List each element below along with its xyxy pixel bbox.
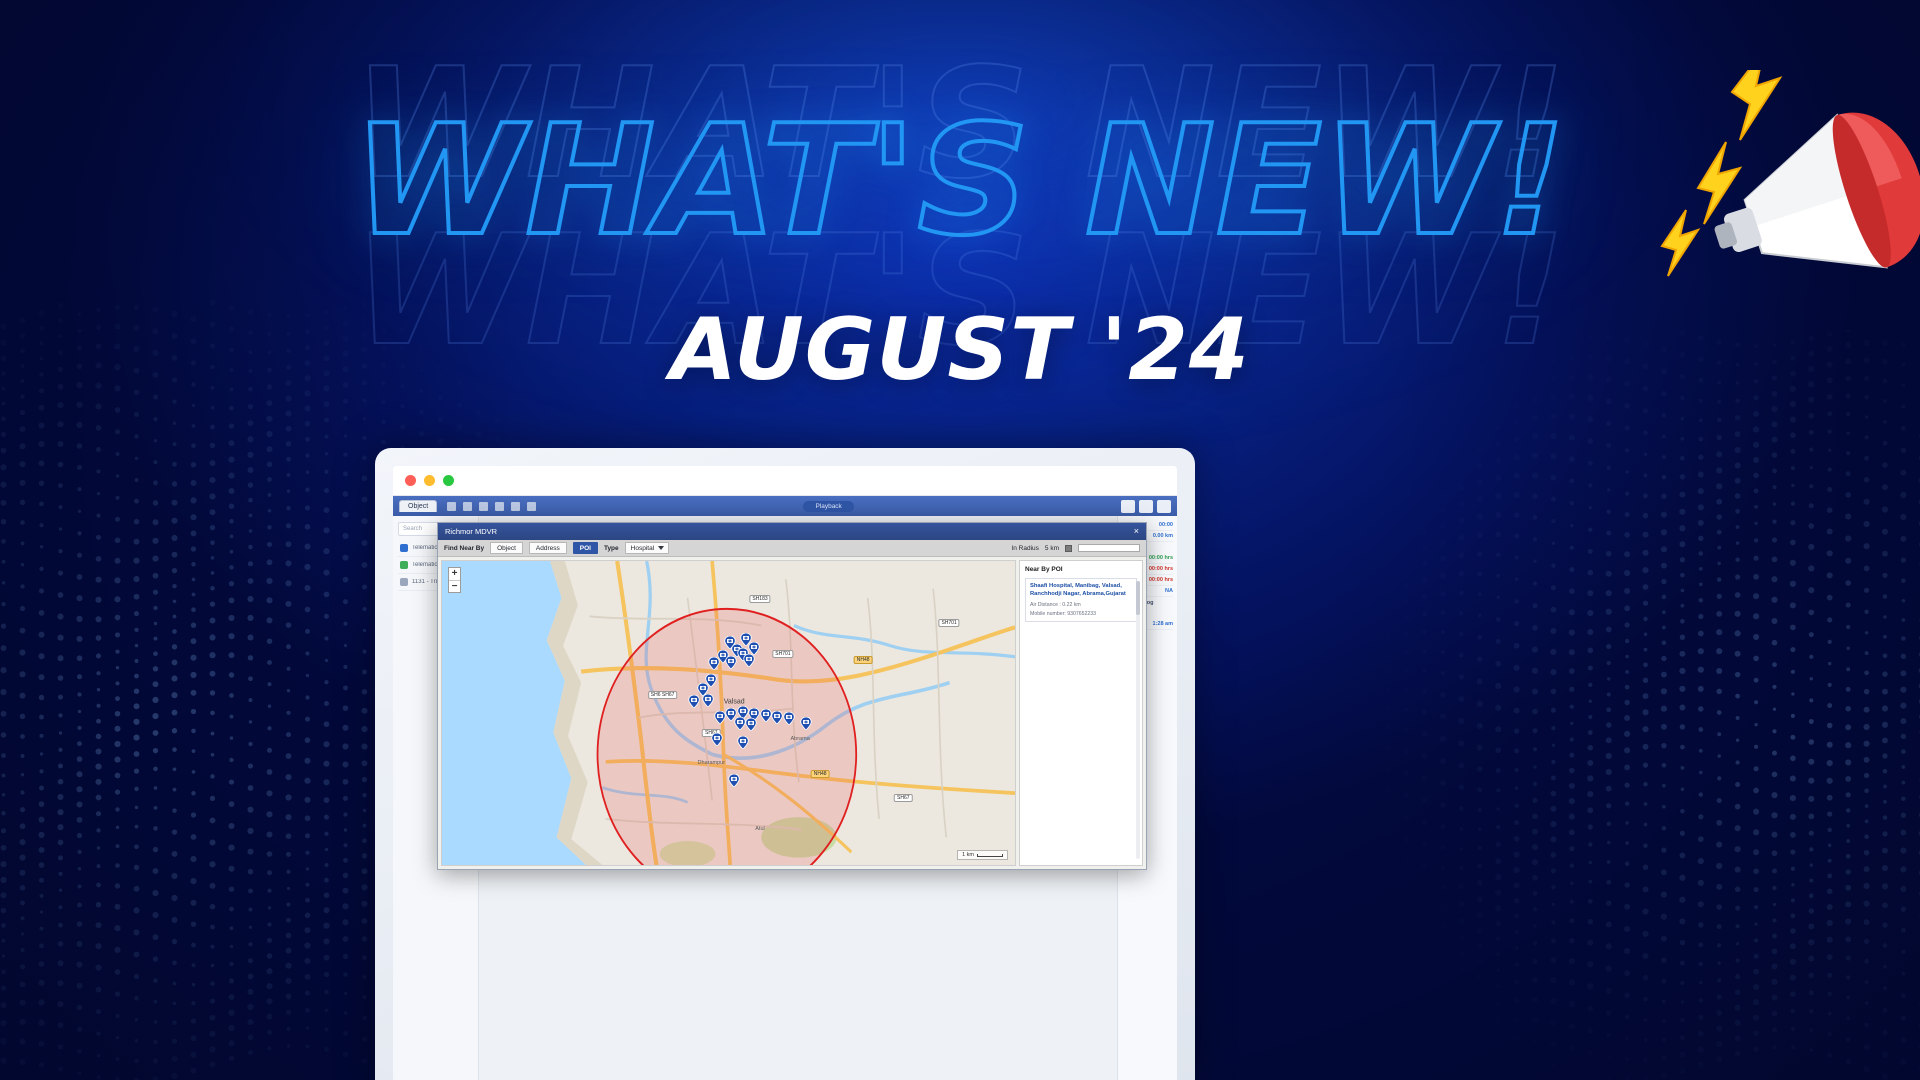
page-subtitle: AUGUST '24 bbox=[0, 300, 1920, 400]
app-body: Search Telematics Device Telematics Devi… bbox=[393, 516, 1177, 1080]
laptop-screen: Object Playback Searc bbox=[393, 466, 1177, 1080]
find-by-object-button[interactable]: Object bbox=[490, 542, 523, 554]
vehicle-icon[interactable] bbox=[447, 502, 456, 511]
near-by-poi-heading: Near By POI bbox=[1025, 566, 1137, 573]
road-label: SH183 bbox=[749, 595, 770, 603]
list-item[interactable]: Shaafi Hospital, Manibag, Valsad, Ranchh… bbox=[1025, 578, 1137, 622]
modal-main: + − SH183SH701SH701NH48SH6 SH67SH67NH48S… bbox=[438, 557, 1146, 869]
menu-icon[interactable] bbox=[1157, 500, 1171, 513]
playback-button[interactable]: Playback bbox=[803, 501, 853, 512]
city-label: Valsad bbox=[724, 699, 745, 706]
modal-toolbar: Find Near By Object Address POI Type Hos… bbox=[438, 540, 1146, 557]
road-label: SH67 bbox=[894, 794, 913, 802]
scale-label: 1 km bbox=[962, 852, 974, 858]
rail-value: 00:00 hrs bbox=[1149, 577, 1173, 583]
poi-air-distance: Air Distance : 0.22 km bbox=[1030, 602, 1132, 608]
minimize-icon[interactable] bbox=[424, 475, 435, 486]
device-icon bbox=[400, 561, 408, 569]
hospital-pin-icon[interactable] bbox=[742, 654, 755, 667]
map-zoom-controls: + − bbox=[448, 567, 461, 593]
zoom-out-button[interactable]: − bbox=[449, 580, 460, 592]
rail-value: 0.00 km bbox=[1153, 533, 1173, 539]
poi-mobile: Mobile number: 9307652233 bbox=[1030, 611, 1132, 617]
close-icon[interactable] bbox=[405, 475, 416, 486]
radius-input[interactable] bbox=[1078, 544, 1140, 552]
road-label: SH701 bbox=[772, 650, 793, 658]
radius-value: 5 km bbox=[1045, 545, 1059, 552]
laptop-shell: Object Playback Searc bbox=[375, 448, 1195, 1080]
zoom-in-button[interactable]: + bbox=[449, 568, 460, 580]
map-scale-bar: 1 km bbox=[957, 850, 1008, 860]
road-label: SH701 bbox=[938, 619, 959, 627]
device-icon[interactable] bbox=[495, 502, 504, 511]
city-label: Atul bbox=[755, 826, 764, 832]
home-icon[interactable] bbox=[527, 502, 536, 511]
megaphone-icon bbox=[1640, 70, 1920, 330]
map-canvas[interactable]: + − SH183SH701SH701NH48SH6 SH67SH67NH48S… bbox=[441, 560, 1016, 866]
radius-checkbox[interactable] bbox=[1065, 545, 1072, 552]
road-label: NH48 bbox=[811, 770, 830, 778]
rail-value: 1:28 am bbox=[1153, 621, 1174, 627]
scrollbar[interactable] bbox=[1136, 581, 1140, 859]
app-topbar: Object Playback bbox=[393, 496, 1177, 516]
truck-icon bbox=[400, 578, 408, 586]
hospital-pin-icon[interactable] bbox=[782, 712, 795, 725]
hospital-pin-icon[interactable] bbox=[725, 656, 738, 669]
city-label: Dharampur bbox=[698, 760, 726, 766]
chat-icon[interactable] bbox=[511, 502, 520, 511]
close-icon[interactable]: × bbox=[1134, 527, 1139, 536]
hospital-pin-icon[interactable] bbox=[711, 733, 724, 746]
hospital-pin-icon[interactable] bbox=[728, 774, 741, 787]
hero-section: WHAT'S NEW! WHAT'S NEW! WHAT'S NEW! AUGU… bbox=[0, 0, 1920, 300]
hospital-pin-icon[interactable] bbox=[705, 674, 718, 687]
title-stack: WHAT'S NEW! WHAT'S NEW! WHAT'S NEW! bbox=[0, 0, 1920, 300]
poi-name: Shaafi Hospital, Manibag, Valsad, Ranchh… bbox=[1030, 583, 1132, 599]
modal-title-bar: Richmor MDVR × bbox=[438, 523, 1146, 540]
find-near-by-label: Find Near By bbox=[444, 545, 484, 552]
hospital-pin-icon[interactable] bbox=[688, 695, 701, 708]
road-label: SH6 SH67 bbox=[648, 691, 678, 699]
device-icon bbox=[400, 544, 408, 552]
find-by-address-button[interactable]: Address bbox=[529, 542, 567, 554]
megaphone-body bbox=[1692, 97, 1920, 315]
gear-icon[interactable] bbox=[1121, 500, 1135, 513]
in-radius-label: In Radius bbox=[1011, 545, 1038, 552]
city-label: Abrama bbox=[790, 736, 809, 742]
laptop-mockup: Object Playback Searc bbox=[375, 448, 1195, 1080]
type-label: Type bbox=[604, 545, 619, 552]
person-icon[interactable] bbox=[463, 502, 472, 511]
driver-icon[interactable] bbox=[479, 502, 488, 511]
rail-value: 00:00 bbox=[1159, 522, 1173, 528]
rail-value: 00:00 hrs bbox=[1149, 566, 1173, 572]
maximize-icon[interactable] bbox=[443, 475, 454, 486]
road-label: NH48 bbox=[854, 656, 873, 664]
page-title: WHAT'S NEW! bbox=[353, 105, 1566, 257]
richmor-mdvr-modal: Richmor MDVR × Find Near By Object Addre… bbox=[437, 522, 1147, 870]
rail-value: 00:00 hrs bbox=[1149, 555, 1173, 561]
find-by-poi-button[interactable]: POI bbox=[573, 542, 598, 554]
topbar-icon-group bbox=[447, 502, 536, 511]
hospital-pin-icon[interactable] bbox=[748, 642, 761, 655]
scale-line bbox=[977, 854, 1003, 857]
rail-value: NA bbox=[1165, 588, 1173, 594]
hospital-pin-icon[interactable] bbox=[708, 657, 721, 670]
near-by-poi-panel: Near By POI Shaafi Hospital, Manibag, Va… bbox=[1019, 560, 1143, 866]
hospital-pin-icon[interactable] bbox=[799, 717, 812, 730]
user-icon[interactable] bbox=[1139, 500, 1153, 513]
browser-chrome bbox=[393, 466, 1177, 496]
hospital-pin-icon[interactable] bbox=[736, 736, 749, 749]
scrollbar-thumb[interactable] bbox=[1136, 581, 1140, 615]
type-select[interactable]: Hospital bbox=[625, 542, 669, 554]
tab-object[interactable]: Object bbox=[399, 500, 437, 512]
hospital-pin-icon[interactable] bbox=[745, 718, 758, 731]
modal-title-text: Richmor MDVR bbox=[445, 527, 497, 536]
